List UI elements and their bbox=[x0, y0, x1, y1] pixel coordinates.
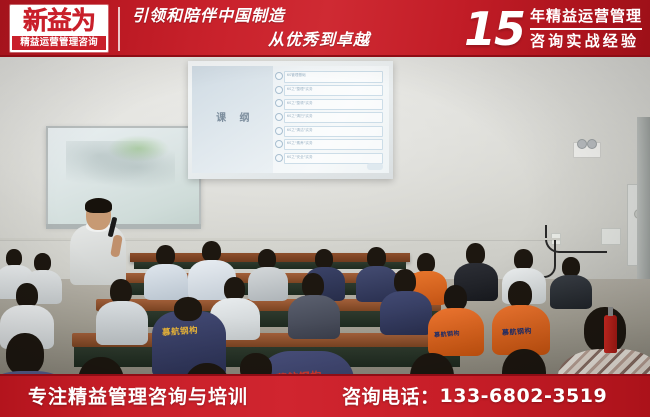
attendee-body bbox=[550, 275, 592, 309]
footer-tagline: 专注精益管理咨询与培训 bbox=[28, 374, 248, 417]
slide-outline-item: 6S之"安全"实务 bbox=[275, 151, 385, 163]
slide-outline-item: 6S管理基础 bbox=[275, 70, 385, 82]
outline-label: 6S之"清扫"实务 bbox=[287, 112, 313, 121]
attendee-head bbox=[156, 245, 175, 266]
bullet-icon bbox=[275, 140, 283, 148]
header-banner: 新益为 精益运营管理咨询 引领和陪伴中国制造 从优秀到卓越 15 年精益运营管理… bbox=[0, 0, 650, 57]
bullet-icon bbox=[275, 72, 283, 80]
uniform-text: 慕航钢构 bbox=[502, 326, 533, 338]
attendee-head bbox=[240, 353, 272, 374]
logo-tagline-text: 精益运营管理咨询 bbox=[12, 36, 106, 50]
logo-brand-text: 新益为 bbox=[10, 6, 108, 36]
presenter-hair bbox=[85, 198, 112, 213]
years-text-block: 年精益运营管理 咨询实战经验 bbox=[530, 6, 642, 52]
attendee-head bbox=[466, 243, 485, 265]
outline-label: 6S之"素养"实务 bbox=[287, 139, 313, 148]
attendee-head bbox=[174, 297, 202, 321]
classroom-photo: 课 纲 6S管理基础 6S之"整理"实务 bbox=[0, 57, 650, 374]
attendee-head bbox=[367, 247, 386, 268]
door-frame bbox=[637, 117, 650, 287]
outline-label: 6S之"整理"实务 bbox=[287, 85, 313, 94]
whiteboard bbox=[46, 126, 201, 226]
projected-slide: 课 纲 6S管理基础 6S之"整理"实务 bbox=[192, 66, 389, 173]
header-slogan: 引领和陪伴中国制造 从优秀到卓越 bbox=[128, 4, 378, 54]
attendee-body bbox=[96, 301, 148, 345]
attendee-head bbox=[417, 253, 435, 273]
outline-label: 6S之"安全"实务 bbox=[287, 153, 313, 162]
promo-image-root: 新益为 精益运营管理咨询 引领和陪伴中国制造 从优秀到卓越 15 年精益运营管理… bbox=[0, 0, 650, 417]
attendee-body bbox=[288, 295, 340, 339]
years-rule bbox=[530, 28, 642, 30]
outline-label: 6S之"清洁"实务 bbox=[287, 126, 313, 135]
years-line-1: 年精益运营管理 bbox=[530, 6, 642, 27]
fire-extinguisher-valve bbox=[608, 307, 613, 316]
attendee-head bbox=[562, 257, 580, 277]
bullet-icon bbox=[275, 99, 283, 107]
slide-corner-logo bbox=[367, 163, 383, 170]
emergency-light-icon bbox=[573, 142, 601, 158]
slide-outline-item: 6S之"清扫"实务 bbox=[275, 111, 385, 123]
attendee-body bbox=[248, 267, 288, 301]
slide-outline-item: 6S之"清洁"实务 bbox=[275, 124, 385, 136]
footer-banner: 专注精益管理咨询与培训 咨询电话：133-6802-3519 bbox=[0, 374, 650, 417]
years-number: 15 bbox=[464, 6, 530, 52]
slide-outline-list: 6S管理基础 6S之"整理"实务 6S之"整顿"实务 bbox=[275, 70, 385, 168]
attendee-head bbox=[514, 249, 533, 270]
slogan-line-2: 从优秀到卓越 bbox=[128, 28, 378, 52]
attendee-body bbox=[144, 264, 188, 300]
slide-outline-item: 6S之"整顿"实务 bbox=[275, 97, 385, 109]
slide-outline-item: 6S之"素养"实务 bbox=[275, 138, 385, 150]
attendee-head bbox=[508, 281, 532, 308]
bullet-icon bbox=[275, 154, 283, 162]
attendee-head bbox=[202, 241, 221, 262]
attendee-body bbox=[380, 291, 432, 335]
uniform-text: 慕航钢构 bbox=[162, 324, 199, 338]
attendee-head bbox=[6, 333, 44, 374]
header-divider bbox=[118, 7, 120, 51]
whiteboard-ledge bbox=[46, 224, 201, 229]
projection-screen: 课 纲 6S管理基础 6S之"整理"实务 bbox=[188, 61, 393, 179]
slide-title: 课 纲 bbox=[202, 109, 269, 124]
bullet-icon bbox=[275, 86, 283, 94]
outline-label: 6S之"整顿"实务 bbox=[287, 99, 313, 108]
bullet-icon bbox=[275, 113, 283, 121]
phone-label: 咨询电话： bbox=[342, 382, 440, 409]
uniform-text: 慕航钢构 bbox=[434, 328, 461, 339]
outline-label: 6S管理基础 bbox=[287, 71, 306, 80]
attendee-head bbox=[258, 249, 276, 269]
experience-badge: 15 年精益运营管理 咨询实战经验 bbox=[464, 2, 642, 55]
whiteboard-green-smudge bbox=[105, 134, 171, 163]
slogan-line-1: 引领和陪伴中国制造 bbox=[128, 4, 378, 28]
attendee-head bbox=[315, 249, 333, 269]
footer-contact: 咨询电话：133-6802-3519 bbox=[342, 374, 607, 417]
company-logo: 新益为 精益运营管理咨询 bbox=[10, 5, 108, 52]
slide-outline-item: 6S之"整理"实务 bbox=[275, 84, 385, 96]
fire-extinguisher-icon bbox=[604, 315, 617, 353]
bullet-icon bbox=[275, 127, 283, 135]
years-line-2: 咨询实战经验 bbox=[530, 31, 642, 52]
phone-number: 133-6802-3519 bbox=[440, 385, 608, 407]
